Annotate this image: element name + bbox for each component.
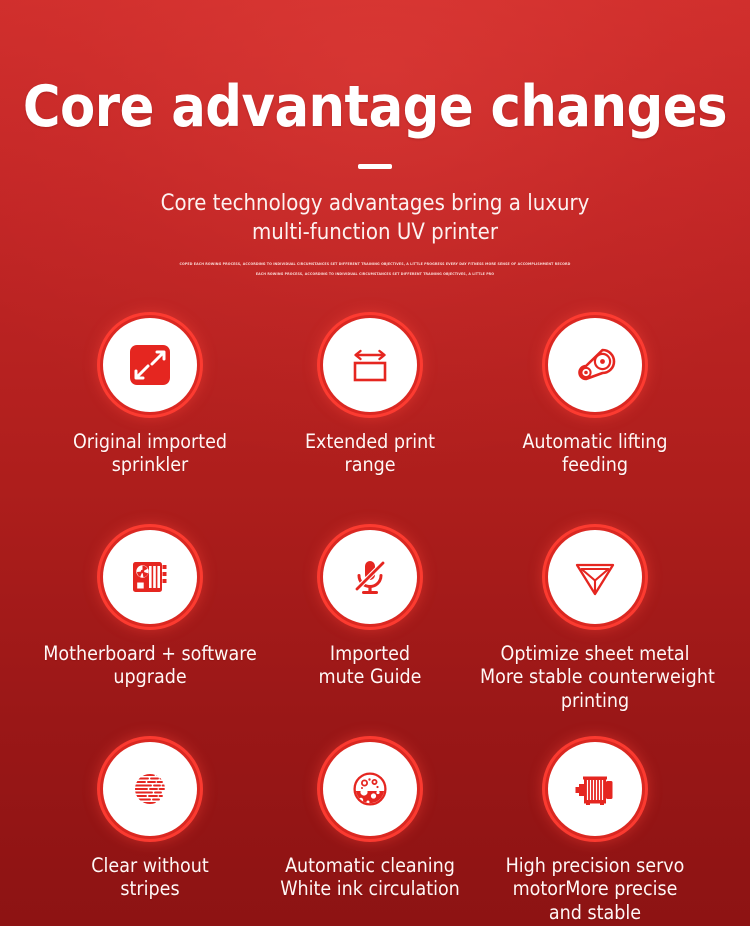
feature-badge xyxy=(323,742,417,836)
motherboard-icon xyxy=(124,551,176,603)
feature-label-line: feeding xyxy=(522,453,667,477)
subtitle-line-2: multi-function UV printer xyxy=(115,218,635,247)
feature-badge xyxy=(103,318,197,412)
servo-motor-icon xyxy=(568,762,622,816)
striped-sphere-icon xyxy=(124,763,176,815)
belt-pulley-icon xyxy=(568,338,622,392)
feature-badge xyxy=(548,318,642,412)
feature-label-line: Automatic cleaning xyxy=(280,854,460,878)
microtext-line-1: COPED EACH ROWING PROCESS, ACCORDING TO … xyxy=(171,260,579,270)
feature-badge xyxy=(323,318,417,412)
expand-arrows-icon xyxy=(124,339,176,391)
feature-item-automatic-cleaning[interactable]: Automatic cleaning White ink circulation xyxy=(260,730,480,926)
feature-label: Original imported sprinkler xyxy=(73,430,227,478)
feature-label-line: Optimize sheet metal xyxy=(480,642,710,666)
feature-label-line: Imported xyxy=(319,642,422,666)
feature-item-clear-without-stripes[interactable]: Clear without stripes xyxy=(40,730,260,926)
feature-badge xyxy=(103,742,197,836)
subtitle-line-1: Core technology advantages bring a luxur… xyxy=(115,189,635,218)
feature-badge xyxy=(323,530,417,624)
feature-label-line: High precision servo xyxy=(506,854,685,878)
feature-label-line: range xyxy=(305,453,435,477)
feature-label: High precision servo motorMore precise a… xyxy=(506,854,685,925)
feature-item-automatic-lifting-feeding[interactable]: Automatic lifting feeding xyxy=(480,306,710,518)
feature-badge xyxy=(103,530,197,624)
bubbles-cleaning-icon xyxy=(344,763,396,815)
poster-subtitle: Core technology advantages bring a luxur… xyxy=(115,189,635,247)
feature-label: Optimize sheet metal More stable counter… xyxy=(480,642,710,713)
feature-label-line: Motherboard + software xyxy=(43,642,257,666)
feature-label: Automatic lifting feeding xyxy=(522,430,667,478)
poster-root: Core advantage changes Core technology a… xyxy=(0,0,750,926)
feature-label: Automatic cleaning White ink circulation xyxy=(280,854,460,902)
feature-label-line: Original imported xyxy=(73,430,227,454)
feature-label-line: printing xyxy=(480,689,710,713)
feature-label-line: More stable counterweight xyxy=(480,665,710,689)
feature-label-line: Extended print xyxy=(305,430,435,454)
microtext-line-2: EACH ROWING PROCESS, ACCORDING TO INDIVI… xyxy=(210,270,540,280)
feature-label-line: sprinkler xyxy=(73,453,227,477)
feature-label: Imported mute Guide xyxy=(319,642,422,690)
feature-item-original-imported-sprinkler[interactable]: Original imported sprinkler xyxy=(40,306,260,518)
feature-grid: Original imported sprinkler Extended pri… xyxy=(0,306,750,926)
feature-badge xyxy=(548,742,642,836)
title-divider xyxy=(358,164,392,169)
feature-label-line: Automatic lifting xyxy=(522,430,667,454)
feature-label-line: and stable xyxy=(506,901,685,925)
print-width-range-icon xyxy=(344,339,396,391)
feature-label-line: Clear without xyxy=(91,854,208,878)
page-title: Core advantage changes xyxy=(0,78,750,138)
poster-header: Core advantage changes Core technology a… xyxy=(0,0,750,280)
feature-badge xyxy=(548,530,642,624)
feature-item-optimize-sheet-metal[interactable]: Optimize sheet metal More stable counter… xyxy=(480,518,710,730)
muted-microphone-icon xyxy=(344,551,396,603)
feature-label: Motherboard + software upgrade xyxy=(43,642,257,690)
feature-label: Extended print range xyxy=(305,430,435,478)
feature-label-line: mute Guide xyxy=(319,665,422,689)
feature-item-motherboard-software-upgrade[interactable]: Motherboard + software upgrade xyxy=(40,518,260,730)
feature-item-high-precision-servo-motor[interactable]: High precision servo motorMore precise a… xyxy=(480,730,710,926)
feature-label-line: White ink circulation xyxy=(280,877,460,901)
feature-label-line: stripes xyxy=(91,877,208,901)
feature-label-line: motorMore precise xyxy=(506,877,685,901)
feature-item-extended-print-range[interactable]: Extended print range xyxy=(260,306,480,518)
feature-label-line: upgrade xyxy=(43,665,257,689)
feature-item-imported-mute-guide[interactable]: Imported mute Guide xyxy=(260,518,480,730)
feature-label: Clear without stripes xyxy=(91,854,208,902)
inverted-pyramid-icon xyxy=(568,550,622,604)
poster-microtext: COPED EACH ROWING PROCESS, ACCORDING TO … xyxy=(171,260,579,280)
